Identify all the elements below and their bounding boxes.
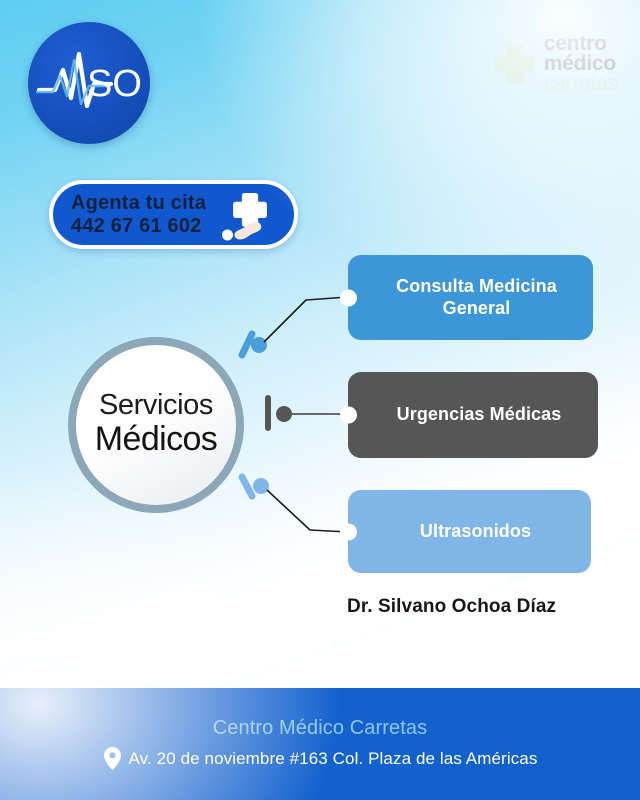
sod-logo-inner: SOD	[28, 22, 150, 144]
footer-address: Av. 20 de noviembre #163 Col. Plaza de l…	[129, 749, 538, 769]
location-pin-icon	[103, 746, 122, 771]
footer-address-row: Av. 20 de noviembre #163 Col. Plaza de l…	[103, 746, 538, 771]
sod-logo-text: SOD	[87, 63, 145, 105]
service-card-ultrasonidos[interactable]: Ultrasonidos	[348, 490, 591, 573]
dot-icon	[222, 230, 233, 241]
service-connector-dot	[340, 407, 357, 424]
connector-dot-3	[253, 478, 269, 494]
connector-line-1	[264, 297, 348, 342]
connector-tick-1	[242, 334, 252, 355]
clinic-logo-line-1: centro	[544, 34, 618, 54]
services-hub: Servicios Médicos	[68, 337, 244, 513]
service-card-urgencias-medicas[interactable]: Urgencias Médicas	[348, 372, 598, 458]
connector-dot-1	[251, 337, 267, 353]
poster-canvas: SOD centro médico carretas Agenta tu cit…	[0, 0, 640, 800]
appointment-icons	[222, 192, 280, 246]
service-label: Ultrasonidos	[420, 521, 531, 542]
connector-line-3	[267, 490, 348, 532]
doctor-name: Dr. Silvano Ochoa Díaz	[347, 596, 556, 618]
service-connector-dot	[340, 523, 357, 540]
appointment-phone[interactable]: 442 67 61 602	[71, 215, 206, 237]
plus-cross-icon	[233, 193, 267, 227]
medical-cross-icon	[492, 41, 538, 87]
clinic-logo: centro médico carretas	[492, 34, 618, 94]
connector-tick-3	[242, 477, 252, 496]
appointment-text: Agenta tu cita 442 67 61 602	[71, 192, 206, 237]
ekg-heartbeat-icon: SOD	[33, 46, 145, 120]
hub-line-2: Médicos	[95, 421, 217, 458]
footer-bar: Centro Médico Carretas Av. 20 de noviemb…	[0, 688, 640, 800]
clinic-logo-line-2: médico	[544, 54, 618, 74]
sod-logo: SOD	[28, 22, 150, 144]
appointment-button[interactable]: Agenta tu cita 442 67 61 602	[49, 180, 298, 249]
service-label: Consulta Medicina General	[382, 276, 571, 318]
connector-dot-2	[276, 406, 292, 422]
appointment-heading: Agenta tu cita	[71, 192, 206, 214]
service-connector-dot	[340, 289, 357, 306]
service-card-consulta-medicina-general[interactable]: Consulta Medicina General	[348, 255, 593, 340]
clinic-logo-wordmark: centro médico carretas	[544, 34, 618, 94]
clinic-logo-line-3: carretas	[544, 74, 618, 94]
service-label: Urgencias Médicas	[397, 404, 562, 425]
footer-clinic-name: Centro Médico Carretas	[213, 717, 428, 740]
hub-line-1: Servicios	[99, 391, 213, 420]
